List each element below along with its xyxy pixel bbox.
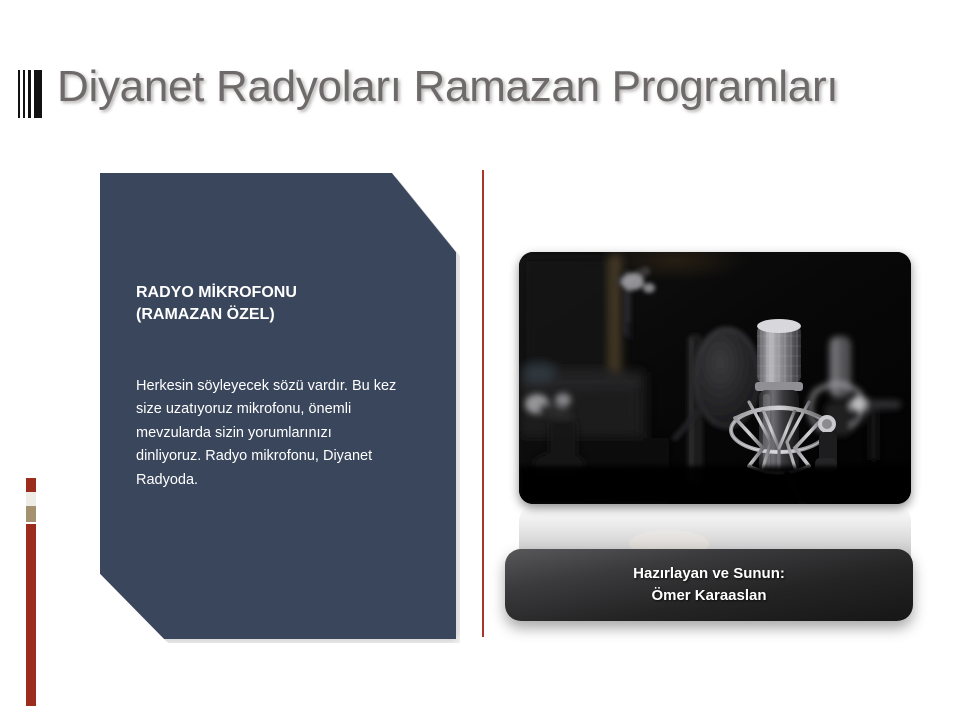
presenter-caption-text: Hazırlayan ve Sunun: Ömer Karaaslan	[633, 563, 785, 607]
panel-body-text: Herkesin söyleyecek sözü vardır. Bu kez …	[136, 375, 398, 492]
caption-line1: Hazırlayan ve Sunun:	[633, 565, 785, 582]
vertical-divider	[482, 170, 484, 637]
panel-heading-line2: (RAMAZAN ÖZEL)	[136, 304, 426, 326]
title-bar-2	[23, 70, 25, 118]
studio-microphone-photo	[519, 252, 911, 504]
caption-line2: Ömer Karaaslan	[633, 585, 785, 607]
accent-tan	[26, 506, 36, 522]
panel-heading: RADYO MİKROFONU (RAMAZAN ÖZEL)	[136, 282, 426, 325]
accent-red-top	[26, 478, 36, 492]
vertical-bars-icon	[18, 70, 46, 118]
panel-heading-line1: RADYO MİKROFONU	[136, 284, 297, 301]
accent-red-long	[26, 524, 36, 706]
title-bar-3	[28, 70, 31, 118]
title-bar-1	[18, 70, 20, 118]
left-accent-bars	[26, 478, 36, 706]
slide-canvas: Diyanet Radyoları Ramazan Programları RA…	[0, 0, 960, 720]
photo-graphic	[519, 252, 911, 504]
presenter-caption-box: Hazırlayan ve Sunun: Ömer Karaaslan	[505, 549, 913, 621]
accent-white	[26, 492, 36, 506]
title-bar-4	[34, 70, 42, 118]
page-title: Diyanet Radyoları Ramazan Programları	[57, 62, 838, 112]
